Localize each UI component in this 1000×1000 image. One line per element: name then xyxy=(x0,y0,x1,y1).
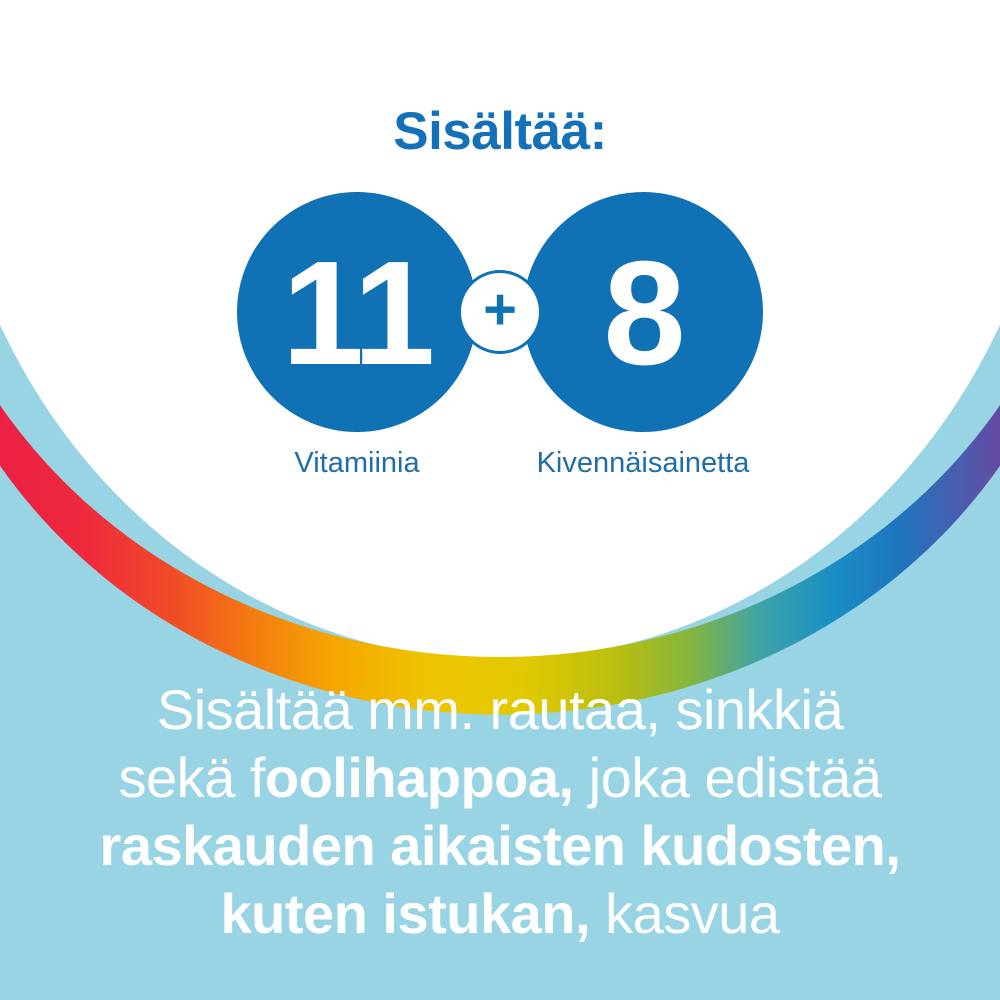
mineral-count-circle: 8 xyxy=(523,192,763,432)
body-copy-line-2-thin-f: f xyxy=(250,746,265,809)
mineral-count-caption: Kivennäisainetta xyxy=(523,447,763,480)
badge-captions: Vitamiinia Kivennäisainetta xyxy=(0,447,1000,487)
body-copy-line-4: kuten istukan, kasvua xyxy=(0,880,1000,948)
body-copy-line-1-text: Sisältää mm. rautaa, sinkkiä xyxy=(157,678,843,741)
body-copy-line-4-bold: kuten istukan, xyxy=(220,882,590,945)
vitamin-count-circle: 11 xyxy=(237,192,477,432)
body-copy-line-3-bold: raskauden aikaisten kudosten, xyxy=(100,814,901,877)
body-copy-line-4-regular: kasvua xyxy=(590,882,780,945)
vitamin-count-caption: Vitamiinia xyxy=(237,447,477,480)
body-copy: Sisältää mm. rautaa, sinkkiä sekä foolih… xyxy=(0,676,1000,948)
product-info-poster: Sisältää: 11 8 + Vitamiinia Kivennäisain… xyxy=(0,0,1000,1000)
body-copy-line-1: Sisältää mm. rautaa, sinkkiä xyxy=(0,676,1000,744)
body-copy-line-2-bold: oolihappoa, xyxy=(265,746,574,809)
mineral-count-value: 8 xyxy=(603,240,682,388)
vitamin-count-value: 11 xyxy=(282,240,432,388)
plus-icon: + xyxy=(483,281,517,339)
plus-badge: + xyxy=(458,270,542,354)
page-title: Sisältää: xyxy=(0,101,1000,162)
body-copy-line-2-regular-c: joka edistää xyxy=(574,746,882,809)
nutrition-badge-cluster: 11 8 + xyxy=(0,192,1000,442)
body-copy-line-3: raskauden aikaisten kudosten, xyxy=(0,812,1000,880)
body-copy-line-2-regular-a: sekä xyxy=(118,746,249,809)
body-copy-line-2: sekä foolihappoa, joka edistää xyxy=(0,744,1000,812)
